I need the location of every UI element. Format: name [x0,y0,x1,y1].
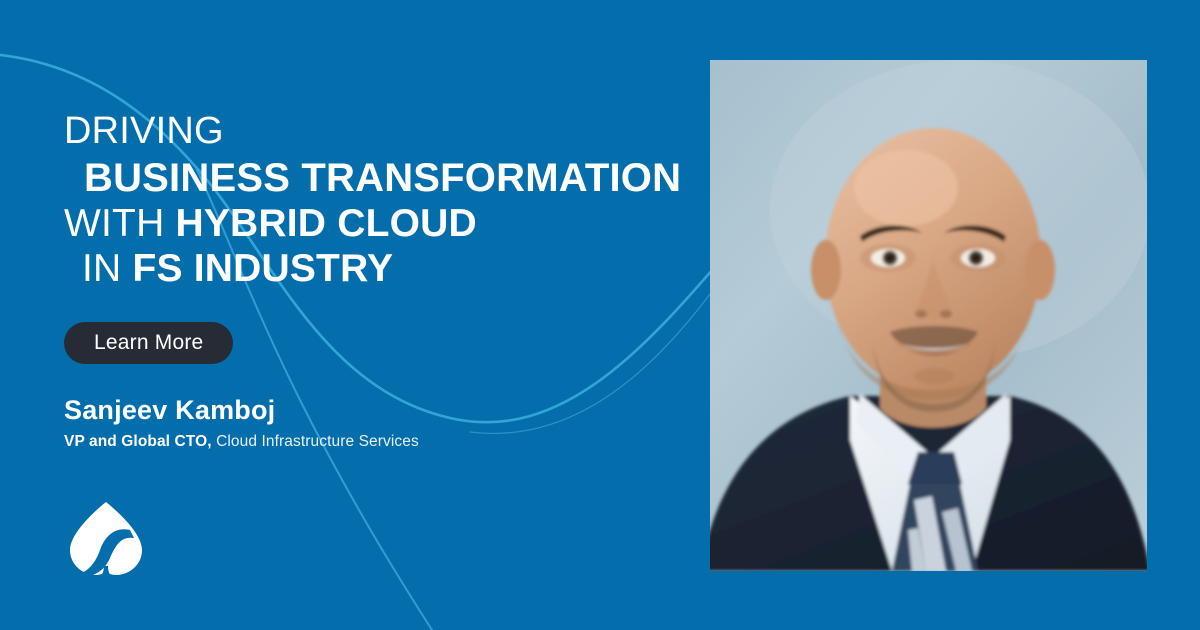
speaker-role-title: VP and Global CTO, [64,433,212,450]
headline-line-4: IN FS INDUSTRY [64,249,704,288]
learn-more-button[interactable]: Learn More [64,322,233,364]
headline-line-3: WITH HYBRID CLOUD [64,204,704,243]
headline-line-3-light: WITH [64,202,175,245]
headline-line-3-bold: HYBRID CLOUD [175,202,476,245]
promo-banner: DRIVING BUSINESS TRANSFORMATION WITH HYB… [0,0,1200,630]
headline-line-4-bold: FS INDUSTRY [132,247,393,290]
speaker-block: Sanjeev Kamboj VP and Global CTO, Cloud … [64,395,419,451]
speaker-portrait-photo [710,60,1147,571]
headline-line-1: DRIVING [64,112,704,150]
learn-more-label: Learn More [94,331,203,355]
droplet-swirl-logo [64,500,148,578]
headline-line-2: BUSINESS TRANSFORMATION [64,158,704,198]
headline-block: DRIVING BUSINESS TRANSFORMATION WITH HYB… [64,112,704,288]
headline-line-4-light: IN [82,247,132,290]
speaker-name: Sanjeev Kamboj [64,395,419,426]
speaker-role: VP and Global CTO, Cloud Infrastructure … [64,433,419,451]
speaker-role-detail: Cloud Infrastructure Services [212,433,419,450]
